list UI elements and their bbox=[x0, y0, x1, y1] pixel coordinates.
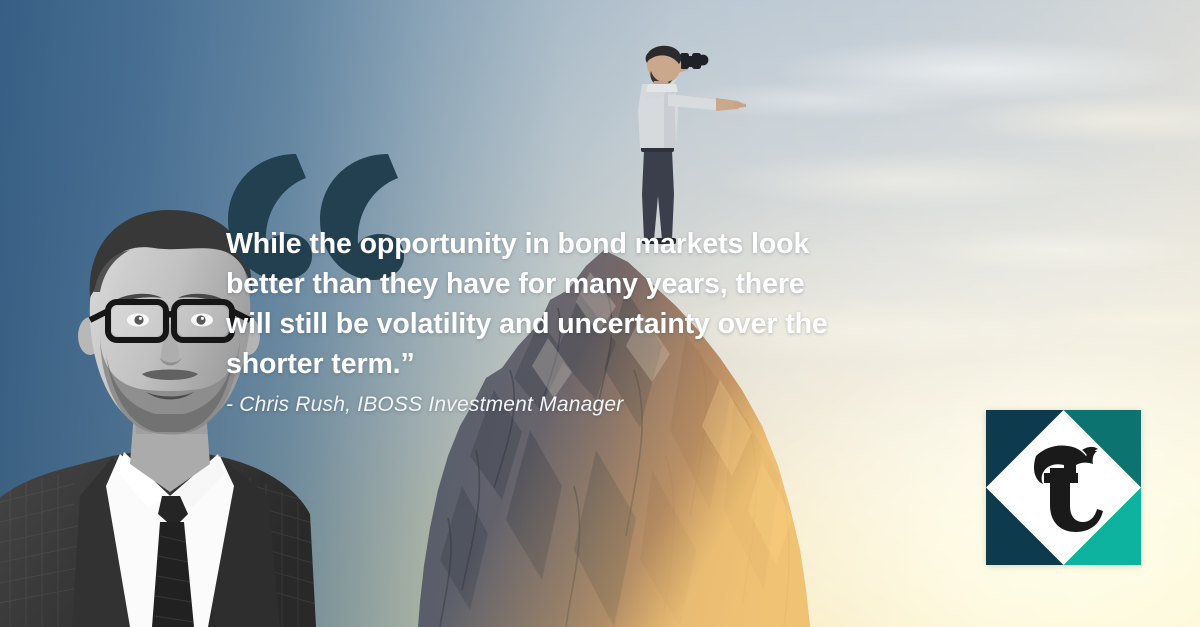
telegraph-logo bbox=[986, 410, 1141, 565]
quote-line-2: better than they have for many years, th… bbox=[226, 264, 866, 304]
quote-block: While the opportunity in bond markets lo… bbox=[226, 224, 866, 420]
quote-line-3: will still be volatility and uncertainty… bbox=[226, 304, 866, 344]
quote-attribution: - Chris Rush, IBOSS Investment Manager bbox=[226, 390, 866, 420]
quote-line-4: shorter term.” bbox=[226, 344, 866, 384]
quote-card: While the opportunity in bond markets lo… bbox=[0, 0, 1200, 627]
quote-line-1: While the opportunity in bond markets lo… bbox=[226, 224, 866, 264]
